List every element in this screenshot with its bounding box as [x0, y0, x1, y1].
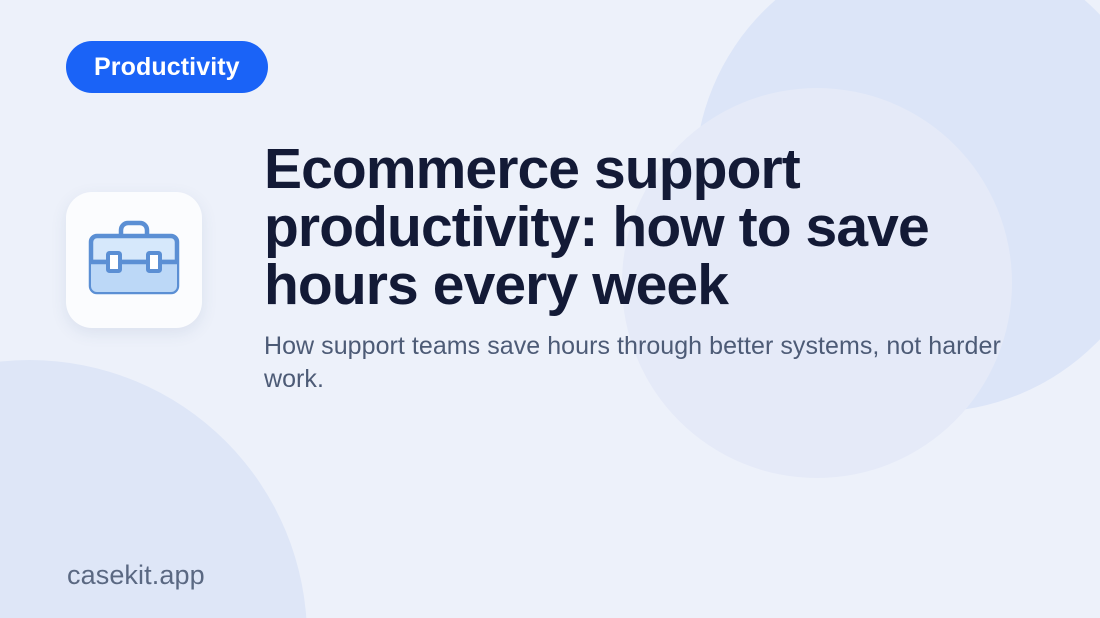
category-badge[interactable]: Productivity — [66, 41, 268, 93]
text-column: Ecommerce support productivity: how to s… — [264, 140, 1054, 396]
page-title: Ecommerce support productivity: how to s… — [264, 140, 1054, 314]
icon-tile — [66, 192, 202, 328]
briefcase-icon — [88, 218, 180, 302]
footer-domain: casekit.app — [67, 559, 205, 591]
page-subtitle: How support teams save hours through bet… — [264, 330, 1019, 396]
social-share-card: Productivity Ecommerce support productiv… — [0, 0, 1100, 618]
category-badge-label: Productivity — [94, 55, 240, 80]
